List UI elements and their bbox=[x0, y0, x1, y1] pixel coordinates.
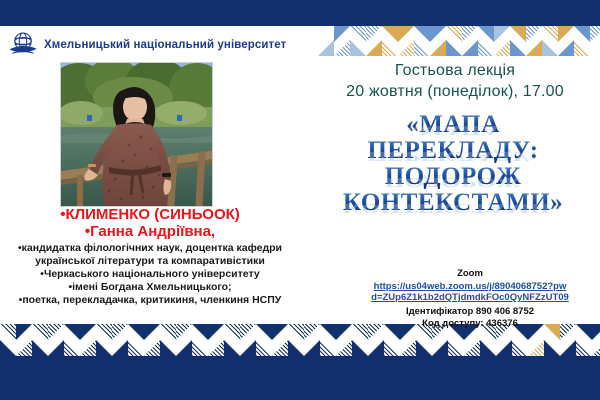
speaker-photo bbox=[60, 62, 213, 207]
decorative-triangle-strip-top bbox=[318, 26, 600, 56]
lecture-datetime: 20 жовтня (понеділок), 17.00 bbox=[310, 81, 600, 102]
zoom-meta: Ідентифікатор 890 406 8752 Код доступу: … bbox=[340, 306, 600, 330]
speaker-given-name: •Ганна Андріївна, bbox=[0, 223, 300, 240]
speaker-surname: •КЛИМЕНКО (СИНЬООК) bbox=[0, 206, 300, 223]
university-header: Хмельницький національний університет bbox=[8, 30, 286, 60]
credential-line: •поетка, перекладачка, критикиня, членки… bbox=[0, 294, 300, 307]
zoom-passcode: Код доступу: 436376 bbox=[340, 318, 600, 330]
zoom-link-line1[interactable]: https://us04web.zoom.us/j/8904068752?pw bbox=[340, 281, 600, 293]
speaker-credentials: •кандидатка філологічних наук, доцентка … bbox=[0, 242, 300, 307]
credential-line: •імені Богдана Хмельницького; bbox=[0, 281, 300, 294]
speaker-info: •КЛИМЕНКО (СИНЬООК) •Ганна Андріївна, •к… bbox=[0, 206, 300, 307]
lecture-title: «МАПА ПЕРЕКЛАДУ: ПОДОРОЖ КОНТЕКСТАМИ» bbox=[306, 112, 600, 216]
title-line-3: ПОДОРОЖ bbox=[306, 164, 600, 189]
globe-orbit-icon bbox=[8, 30, 38, 60]
bottom-navy-band bbox=[0, 356, 600, 400]
zoom-label: Zoom bbox=[340, 268, 600, 280]
lecture-announcement-poster: Хмельницький національний університет bbox=[0, 0, 600, 400]
credential-line: •Черкаського національного університету bbox=[0, 268, 300, 281]
title-line-2: ПЕРЕКЛАДУ: bbox=[306, 138, 600, 163]
lecture-kind: Гостьова лекція bbox=[310, 60, 600, 81]
credential-line: •кандидатка філологічних наук, доцентка … bbox=[0, 242, 300, 255]
title-line-4: КОНТЕКСТАМИ» bbox=[306, 190, 600, 215]
zoom-link-line2[interactable]: d=ZUp6Z1k1b2dQTjdmdkFOc0QyNFZzUT09 bbox=[340, 292, 600, 304]
university-name: Хмельницький національний університет bbox=[44, 39, 286, 51]
lecture-heading: Гостьова лекція 20 жовтня (понеділок), 1… bbox=[310, 60, 600, 102]
title-line-1: «МАПА bbox=[306, 112, 600, 137]
zoom-details: Zoom https://us04web.zoom.us/j/890406875… bbox=[340, 268, 600, 330]
zoom-meeting-id: Ідентифікатор 890 406 8752 bbox=[340, 306, 600, 318]
credential-line: української літератури та компаративісти… bbox=[0, 255, 300, 268]
top-navy-band bbox=[0, 0, 600, 26]
